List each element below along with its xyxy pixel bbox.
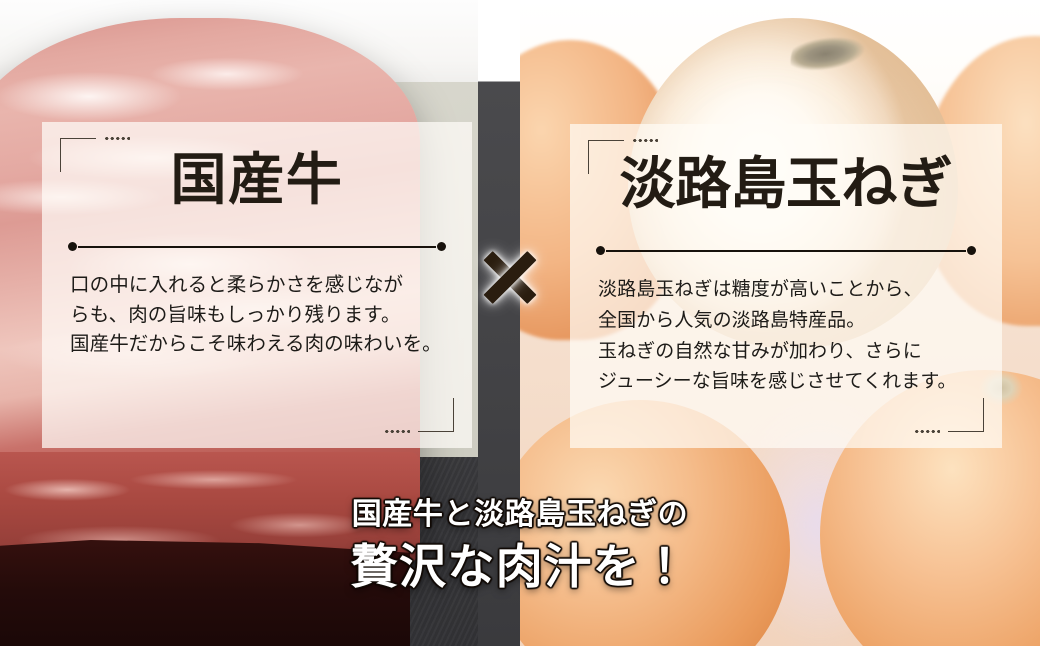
corner-bracket-bottom-right-icon xyxy=(414,400,454,432)
rule-dot-right-icon xyxy=(437,242,446,251)
onion-card-rule xyxy=(596,246,976,255)
corner-dots-top-left-icon xyxy=(632,139,658,142)
cross-multiply-icon xyxy=(481,248,539,306)
beef-body-line-2: らも、肉の旨味もしっかり残ります。 xyxy=(70,300,446,330)
rule-line xyxy=(606,250,966,252)
corner-dots-bottom-right-icon xyxy=(384,430,410,433)
beef-card-rule xyxy=(68,242,446,251)
onion-body-line-2: 全国から人気の淡路島特産品。 xyxy=(598,305,976,336)
corner-bracket-bottom-right-icon xyxy=(944,400,984,432)
corner-dots-top-left-icon xyxy=(104,137,130,140)
beef-card-body: 口の中に入れると柔らかさを感じなが らも、肉の旨味もしっかり残ります。 国産牛だ… xyxy=(70,270,446,359)
onion-body-line-4: ジューシーな旨味を感じさせてくれます。 xyxy=(598,366,976,397)
onion-card-title: 淡路島玉ねぎ xyxy=(570,154,1002,216)
onion-card-body: 淡路島玉ねぎは糖度が高いことから、 全国から人気の淡路島特産品。 玉ねぎの自然な… xyxy=(598,274,976,397)
rule-dot-left-icon xyxy=(68,242,77,251)
beef-card-title: 国産牛 xyxy=(42,150,472,212)
catch-copy-line-1: 国産牛と淡路島玉ねぎの xyxy=(0,489,1040,533)
catch-copy-line-2: 贅沢な肉汁を！ xyxy=(0,528,1040,597)
beef-info-card: 国産牛 口の中に入れると柔らかさを感じなが らも、肉の旨味もしっかり残ります。 … xyxy=(42,122,472,448)
onion-body-line-1: 淡路島玉ねぎは糖度が高いことから、 xyxy=(598,274,976,305)
rule-line xyxy=(78,246,436,248)
product-banner: 国産牛 口の中に入れると柔らかさを感じなが らも、肉の旨味もしっかり残ります。 … xyxy=(0,0,1040,646)
corner-dots-bottom-right-icon xyxy=(914,430,940,433)
rule-dot-right-icon xyxy=(967,246,976,255)
beef-body-line-3: 国産牛だからこそ味わえる肉の味わいを。 xyxy=(70,329,446,359)
onion-body-line-3: 玉ねぎの自然な甘みが加わり、さらに xyxy=(598,336,976,367)
beef-body-line-1: 口の中に入れると柔らかさを感じなが xyxy=(70,270,446,300)
onion-info-card: 淡路島玉ねぎ 淡路島玉ねぎは糖度が高いことから、 全国から人気の淡路島特産品。 … xyxy=(570,124,1002,448)
rule-dot-left-icon xyxy=(596,246,605,255)
